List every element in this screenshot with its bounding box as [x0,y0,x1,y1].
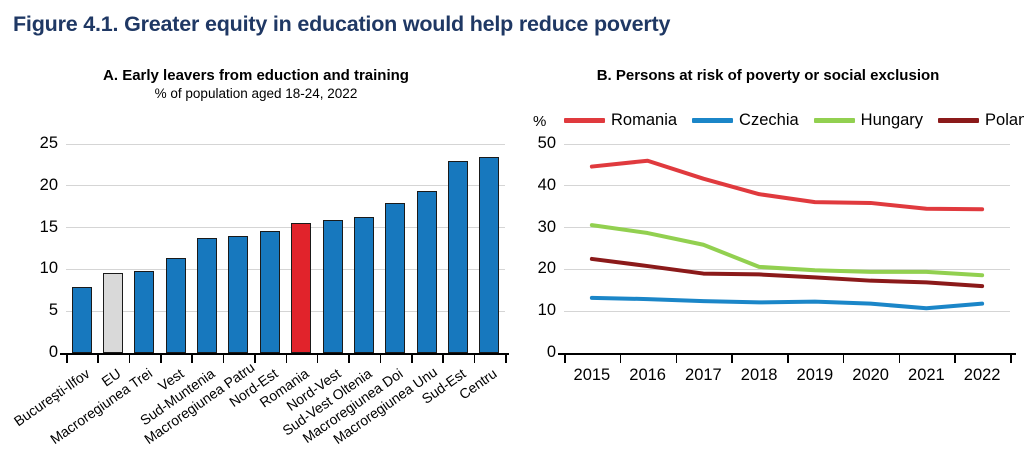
x-axis-tick [160,355,162,363]
x-axis-tick [899,355,901,363]
bar-9[interactable] [323,220,343,353]
y-axis-tick-label: 30 [512,219,556,236]
bar-12[interactable] [417,191,437,353]
bar-6[interactable] [228,236,248,353]
x-axis-label-2016: 2016 [618,367,678,384]
x-axis-tick [317,355,319,363]
x-axis-tick [97,355,99,363]
y-axis-tick-label: 15 [14,219,58,236]
y-axis-tick-label: 25 [14,135,58,152]
gridline-y-20 [66,185,505,186]
panel-a-axes [66,144,505,353]
x-axis-label-2018: 2018 [729,367,789,384]
x-axis-tick [843,355,845,363]
x-axis-label-2022: 2022 [952,367,1012,384]
y-axis-tick-label: 0 [14,344,58,361]
bar-2[interactable] [103,273,123,353]
x-axis-tick [442,355,444,363]
gridline-y-5 [66,311,505,312]
panel-b-lines [564,144,1010,353]
y-axis-tick-label: 20 [512,260,556,277]
x-axis-tick [380,355,382,363]
x-axis-tick [505,355,507,363]
bar-14[interactable] [479,157,499,353]
panel-b-chart: B. Persons at risk of poverty or social … [512,66,1024,476]
x-axis-label-2017: 2017 [673,367,733,384]
x-axis-tick [348,355,350,363]
x-axis-tick [191,355,193,363]
x-axis-tick [1010,355,1012,363]
bar-7[interactable] [260,231,280,353]
x-axis-label-2019: 2019 [785,367,845,384]
line-series-czechia [592,298,982,308]
x-axis-tick [787,355,789,363]
bar-13[interactable] [448,161,468,353]
panel-a-plot-area: 0510152025Bucureşti-IlfovEUMacroregiunea… [0,66,512,476]
y-axis-tick-label: 5 [14,302,58,319]
x-axis-tick [129,355,131,363]
x-axis-tick [954,355,956,363]
line-series-romania [592,161,982,209]
x-axis-label-2020: 2020 [841,367,901,384]
x-axis-tick [286,355,288,363]
x-axis-tick [676,355,678,363]
x-axis-tick [254,355,256,363]
y-axis-tick-label: 50 [512,135,556,152]
x-axis-tick [411,355,413,363]
gridline-y-15 [66,227,505,228]
y-axis-tick-label: 0 [512,344,556,361]
y-axis-tick-label: 40 [512,177,556,194]
bar-4[interactable] [166,258,186,353]
figure-title: Figure 4.1. Greater equity in education … [13,12,670,37]
x-axis-label-2021: 2021 [896,367,956,384]
bar-8[interactable] [291,223,311,353]
panel-a-chart: A. Early leavers from eduction and train… [0,66,512,476]
x-axis-tick [564,355,566,363]
x-axis-label-2015: 2015 [562,367,622,384]
y-axis-tick-label: 10 [512,302,556,319]
x-axis-tick [223,355,225,363]
bar-1[interactable] [72,287,92,353]
panel-b-plot-area: 0102030405020152016201720182019202020212… [512,66,1024,476]
bar-11[interactable] [385,203,405,353]
bar-3[interactable] [134,271,154,353]
x-axis-tick [474,355,476,363]
y-axis-tick-label: 20 [14,177,58,194]
gridline-y-10 [66,269,505,270]
x-axis-tick [66,355,68,363]
y-axis-tick-label: 10 [14,260,58,277]
bar-5[interactable] [197,238,217,353]
bar-10[interactable] [354,217,374,353]
panel-b-axes [564,144,1010,353]
x-axis-tick [731,355,733,363]
x-axis-tick [620,355,622,363]
gridline-y-25 [66,144,505,145]
